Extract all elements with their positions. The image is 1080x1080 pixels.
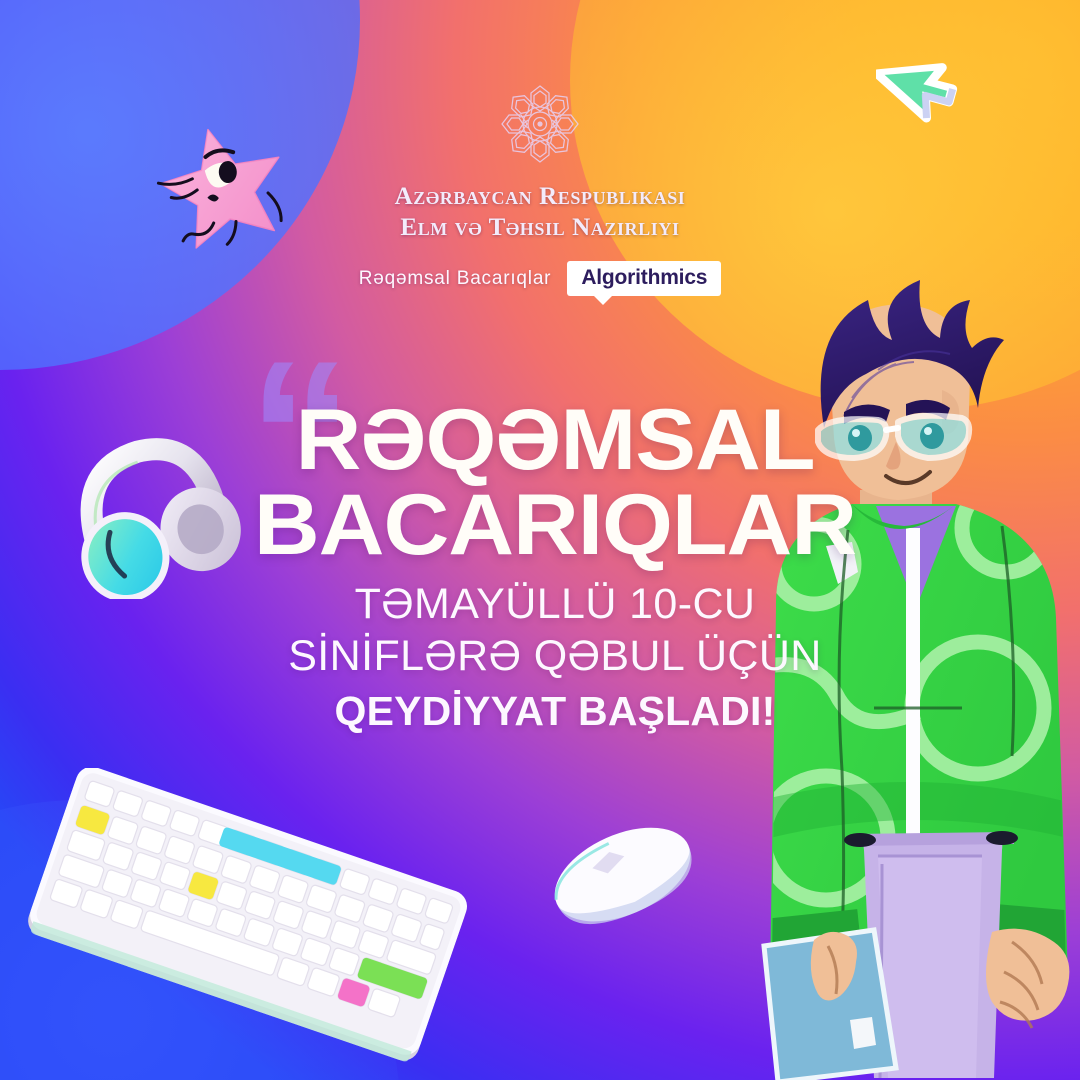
computer-mouse-illustration	[540, 812, 710, 947]
poster-canvas: Azərbaycan Respublikası Elm və Təhsil Na…	[0, 0, 1080, 1080]
headline-line-2: BACARIQLAR	[0, 483, 1080, 568]
ministry-line-1: Azərbaycan Respublikası	[0, 182, 1080, 213]
brand-program-name: Rəqəmsal Bacarıqlar	[359, 268, 552, 290]
algorithmics-badge: Algorithmics	[567, 261, 721, 296]
headline-line-1: RƏQƏMSAL	[0, 398, 1080, 483]
headline: RƏQƏMSAL BACARIQLAR	[0, 398, 1080, 568]
azerbaijan-ministry-emblem	[492, 78, 588, 170]
subtitle-line-1: TƏMAYÜLLÜ 10-CU	[30, 578, 1080, 630]
ministry-line-2: Elm və Təhsil Nazirliyi	[0, 213, 1080, 244]
subtitle-line-2: SİNİFLƏRƏ QƏBUL ÜÇÜN	[30, 630, 1080, 682]
keyboard-illustration	[14, 768, 474, 1080]
subtitle: TƏMAYÜLLÜ 10-CU SİNİFLƏRƏ QƏBUL ÜÇÜN QEY…	[0, 578, 1080, 736]
ministry-name: Azərbaycan Respublikası Elm və Təhsil Na…	[0, 182, 1080, 243]
header: Azərbaycan Respublikası Elm və Təhsil Na…	[0, 78, 1080, 296]
subtitle-line-3: QEYDİYYAT BAŞLADI!	[30, 686, 1080, 736]
